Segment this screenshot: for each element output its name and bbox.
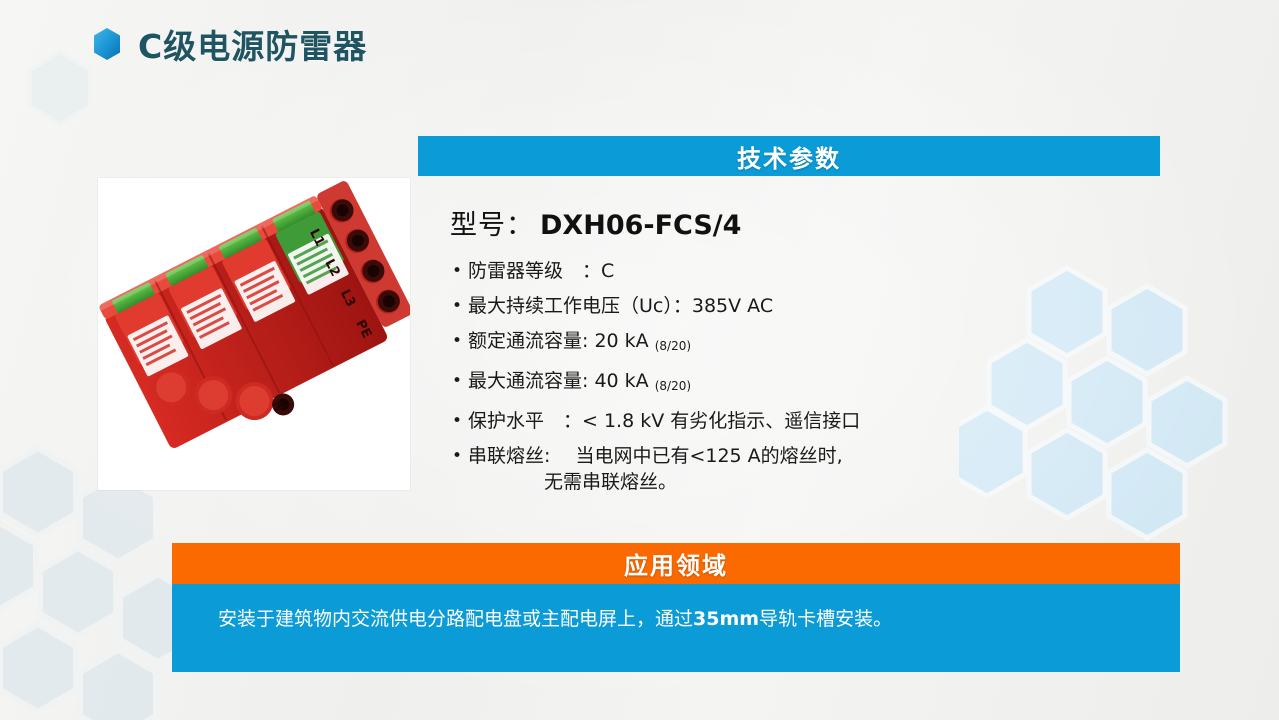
model-line: 型号：DXH06-FCS/4 [450,203,741,242]
application-text-prefix: 安装于建筑物内交流供电分路配电盘或主配电屏上，通过 [218,608,693,630]
application-body: 安装于建筑物内交流供电分路配电盘或主配电屏上，通过35mm导轨卡槽安装。 [172,584,1180,672]
application-title: 应用领域 [624,546,728,581]
application-text-bold: 35mm [693,608,759,630]
spec-line: 额定通流容量: 20 kA (8/20) [468,330,691,352]
spec-item: • 最大持续工作电压（Uc）：385V AC [452,293,1012,319]
page-title: C级电源防雷器 [138,20,367,68]
model-value: DXH06-FCS/4 [540,210,741,241]
spec-subscript: (8/20) [655,379,691,393]
spec-body: 保护水平 ：< 1.8 kV 有劣化指示、遥信接口 [468,408,1012,434]
spec-body: 最大通流容量: 40 kA (8/20) [468,368,1012,399]
bullet-icon: • [452,368,468,394]
spec-list: • 防雷器等级 ：C • 最大持续工作电压（Uc）：385V AC • 额定通流… [452,258,1012,504]
spec-item: • 防雷器等级 ：C [452,258,1012,284]
spec-body: 串联熔丝: 当电网中已有<125 A的熔丝时, 无需串联熔丝。 [468,443,1012,495]
spec-line: 保护水平 ：< 1.8 kV [468,410,664,432]
bullet-icon: • [452,293,468,319]
spec-body: 最大持续工作电压（Uc）：385V AC [468,293,1012,319]
spec-line: 无需串联熔丝。 [468,471,677,493]
tech-params-header-bar: 技术参数 [418,136,1160,176]
hexagon-icon [92,27,122,61]
bullet-icon: • [452,258,468,284]
bullet-icon: • [452,408,468,434]
product-image: L1 L2 L3 PE N [98,178,410,490]
spec-line: 有劣化指示、遥信接口 [670,410,860,432]
spec-text: 最大通流容量: 40 kA [468,370,655,392]
spec-item: • 额定通流容量: 20 kA (8/20) [452,328,1012,359]
spec-item: • 串联熔丝: 当电网中已有<125 A的熔丝时, 无需串联熔丝。 [452,443,1012,495]
spec-line: 防雷器等级 ：C [468,260,614,282]
application-text-suffix: 导轨卡槽安装。 [759,608,892,630]
tech-params-title: 技术参数 [737,139,841,174]
spec-line: 串联熔丝: 当电网中已有<125 A的熔丝时, [468,445,843,467]
spec-line: 最大持续工作电压（Uc）：385V AC [468,295,773,317]
spd-module-illustration: L1 L2 L3 PE N [98,178,410,490]
bullet-icon: • [452,328,468,354]
page-header: C级电源防雷器 [92,20,367,68]
spec-item: • 保护水平 ：< 1.8 kV 有劣化指示、遥信接口 [452,408,1012,434]
spec-item: • 最大通流容量: 40 kA (8/20) [452,368,1012,399]
spec-body: 防雷器等级 ：C [468,258,1012,284]
model-label: 型号： [450,210,534,241]
spec-body: 额定通流容量: 20 kA (8/20) [468,328,1012,359]
application-text: 安装于建筑物内交流供电分路配电盘或主配电屏上，通过35mm导轨卡槽安装。 [218,604,892,631]
spec-subscript: (8/20) [655,339,691,353]
spec-text: 额定通流容量: 20 kA [468,330,655,352]
application-header-bar: 应用领域 [172,543,1180,584]
spec-line: 最大通流容量: 40 kA (8/20) [468,370,691,392]
bullet-icon: • [452,443,468,469]
